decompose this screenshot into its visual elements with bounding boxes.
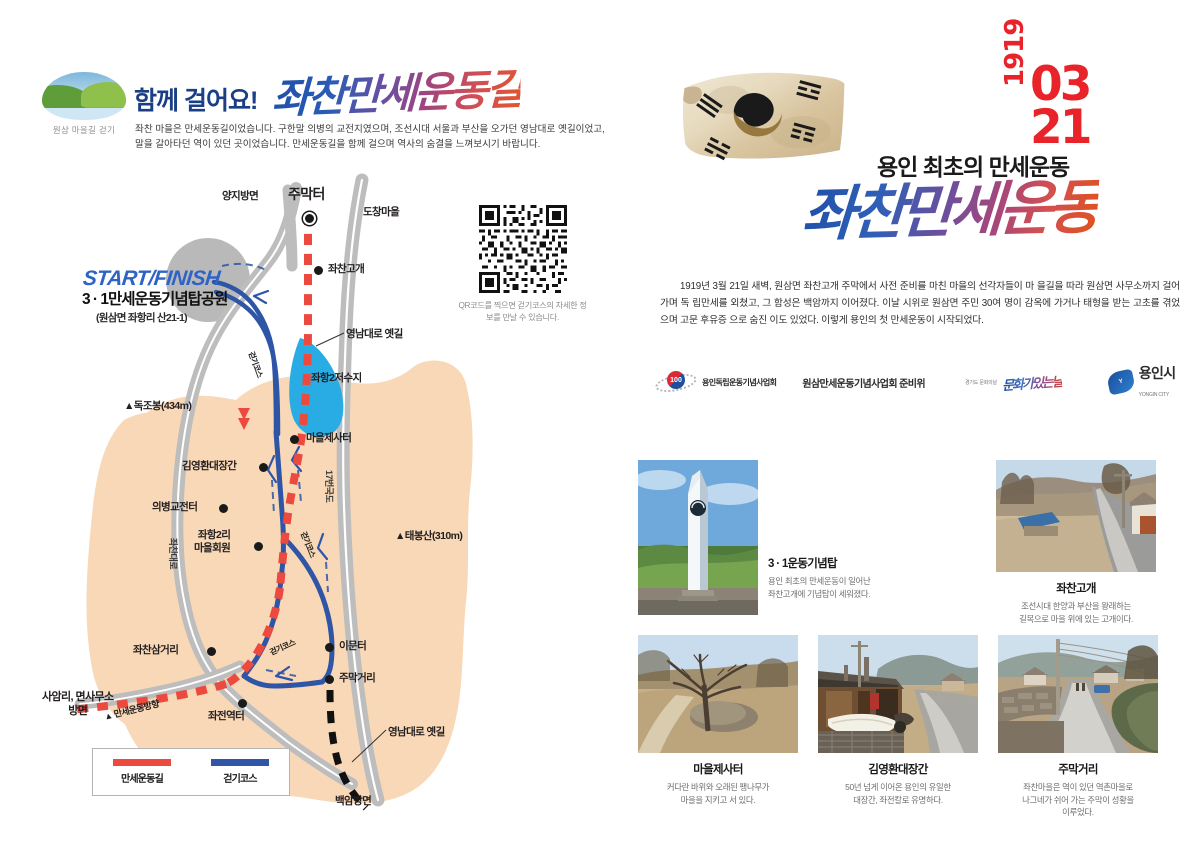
date-day: 21 (1030, 100, 1089, 155)
photo-title-village-ritual-site: 마을제사터 (638, 761, 798, 777)
photo-desc-jumak-street: 좌찬마을은 역이 있던 역촌마을로 나그네가 쉬어 가는 주막이 성황을 이루었… (998, 781, 1158, 819)
map-label-village-hall: 좌항2리마을회원 (194, 529, 230, 554)
date-year: 1919 (1002, 19, 1028, 87)
photo-village-ritual-site (638, 635, 798, 753)
map-label-imunteo: 이문터 (339, 638, 366, 653)
photo-card-memorial-tower: 3 · 1운동기념탑 용인 최초의 만세운동이 일어난 좌찬고개에 기념탑이 세… (638, 460, 758, 615)
partner-4-sub: YONGIN CITY (1139, 392, 1169, 398)
start-finish-name: 3 · 1만세운동기념탑공원 (82, 292, 227, 308)
map-label-dochang: 도창마을 (363, 204, 399, 219)
date-month-day: 03 21 (1030, 63, 1089, 149)
headline-brush-title: 좌찬만세운동길 (271, 68, 522, 120)
map-label-taebongsan: ▲태봉산(310m) (395, 528, 462, 543)
map-label-baegam: 백암방면 (335, 793, 371, 808)
photo-card-village-ritual-site: 마을제사터 커다란 바위와 오래된 팽나무가 마을을 지키고 서 있다. (638, 635, 798, 806)
map-label-maeul-jesa: 마을제사터 (306, 430, 351, 445)
legend-swatch-course (211, 759, 269, 766)
taegeukgi-graphic (678, 64, 853, 169)
map-label-route17: 17번국도 (323, 470, 336, 502)
partner-1-name: 용인독립운동기념사업회 (702, 377, 776, 388)
photo-card-jumak-street: 주막거리 좌찬마을은 역이 있던 역촌마을로 나그네가 쉬어 가는 주막이 성황… (998, 635, 1158, 819)
map-dot-jumakteo (303, 212, 316, 225)
photo-title-jumak-street: 주막거리 (998, 761, 1158, 777)
partner-logo-3: 경기도 문화의날 문화가있는날 (965, 373, 1062, 392)
qr-code-icon[interactable] (479, 205, 567, 293)
map-label-samgeori: 좌찬삼거리 (133, 642, 178, 657)
map-label-yeongnamdaero-bottom: 영남대로 옛길 (388, 724, 445, 739)
brand-mark: 원삼 마을길 걷기 (38, 72, 130, 136)
qr-caption: QR코드를 찍으면 걷기코스의 자세한 정보를 만날 수 있습니다. (455, 300, 590, 325)
brand-caption: 원삼 마을길 걷기 (38, 124, 130, 136)
photo-village-ritual-site-image (638, 635, 798, 753)
map-dot-jumak-geori (325, 675, 334, 684)
photo-title-memorial-tower: 3 · 1운동기념탑 (768, 555, 918, 571)
photo-title-smithy: 김영환대장간 (818, 761, 978, 777)
map-label-jumak-geori: 주막거리 (339, 670, 375, 685)
qr-block: QR코드를 찍으면 걷기코스의 자세한 정보를 만날 수 있습니다. (455, 205, 590, 325)
photo-memorial-tower (638, 460, 758, 615)
right-body-text: 1919년 3월 21일 새벽, 원삼면 좌찬고개 주막에서 사전 준비를 마친… (660, 278, 1180, 329)
partner-logo-1: 100 용인독립운동기념사업회 (655, 369, 776, 395)
photo-memorial-tower-image (638, 460, 758, 615)
map-dot-jwachan-gogae (314, 266, 323, 275)
photo-smithy-image (818, 635, 978, 753)
legend-item-course: 걷기코스 (191, 759, 289, 785)
map-dot-kim-daejanggan (259, 463, 268, 472)
anniversary-100-icon: 100 (655, 369, 697, 395)
map-label-kim-daejanggan: 김영환대장간 (182, 458, 236, 473)
photo-card-jwachan-pass: 좌찬고개 조선시대 한양과 부산을 왕래하는 길목으로 마을 위에 있는 고개이… (996, 460, 1156, 625)
taegeukgi-flag-icon (678, 64, 853, 169)
map-label-yangji: 양지방면 (222, 188, 258, 203)
map-label-yeongnamdaero-top: 영남대로 옛길 (346, 326, 403, 341)
headline: 함께 걸어요! 좌찬만세운동길 (134, 78, 521, 120)
legend-label-manse: 만세운동길 (93, 770, 191, 785)
partner-2-name: 원삼만세운동기념사업회 준비위 (802, 375, 925, 390)
map-label-reservoir: 좌항2저수지 (311, 370, 362, 385)
photo-desc-jwachan-pass: 조선시대 한양과 부산을 왕래하는 길목으로 마을 위에 있는 고개이다. (996, 600, 1156, 625)
map-label-uibyeong: 의병교전터 (152, 499, 197, 514)
photo-card-smithy: 김영환대장간 50년 넘게 이어온 용인의 유일한 대장간, 좌전칼로 유명하다… (818, 635, 978, 806)
date-badge: 1919 03 21 (1000, 63, 1110, 155)
photo-jumak-street (998, 635, 1158, 753)
start-finish-block: START/FINISH 3 · 1만세운동기념탑공원 (원삼면 좌항리 산21… (82, 268, 227, 325)
map-label-jwajeon: 좌전역터 (208, 708, 244, 723)
map-dot-samgeori (207, 647, 216, 656)
partner-4-name: 용인시 (1139, 365, 1176, 381)
start-finish-address: (원삼면 좌항리 산21-1) (82, 310, 227, 325)
yongin-city-icon: Y (1106, 369, 1136, 396)
map-label-jwachan-daero: 좌찬대로 (167, 538, 180, 569)
partner-logo-2: 원삼만세운동기념사업회 준비위 (802, 375, 925, 390)
map-dot-maeul-jesa (290, 435, 299, 444)
intro-paragraph: 좌찬 마을은 만세운동길이었습니다. 구한말 의병의 교전지였으며, 조선시대 … (135, 122, 605, 152)
photo-smithy (818, 635, 978, 753)
right-brush-title: 좌찬만세운동 (800, 177, 1099, 244)
headline-lead: 함께 걸어요! (134, 89, 257, 120)
legend-label-course: 걷기코스 (191, 770, 289, 785)
right-body-content: 1919년 3월 21일 새벽, 원삼면 좌찬고개 주막에서 사전 준비를 마친… (660, 281, 1180, 326)
partner-3-name: 문화가있는날 (1001, 370, 1062, 393)
mountain-lake-logo-icon (42, 72, 126, 120)
map-legend: 만세운동길 걷기코스 (92, 748, 290, 796)
photo-jwachan-pass-image (996, 460, 1156, 572)
map-dot-village-hall (254, 542, 263, 551)
partner-logo-row: 100 용인독립운동기념사업회 원삼만세운동기념사업회 준비위 경기도 문화의날… (655, 360, 1185, 404)
map-dot-uibyeong (219, 504, 228, 513)
map-label-dokjobong: ▲독조봉(434m) (124, 398, 191, 413)
photo-title-jwachan-pass: 좌찬고개 (996, 580, 1156, 596)
photo-desc-village-ritual-site: 커다란 바위와 오래된 팽나무가 마을을 지키고 서 있다. (638, 781, 798, 806)
qr-code-graphic (479, 205, 567, 293)
start-finish-title: START/FINISH (82, 268, 230, 289)
legend-swatch-manse (113, 759, 171, 766)
map-label-jumakteo: 주막터 (288, 184, 325, 204)
legend-item-manse: 만세운동길 (93, 759, 191, 785)
photo-jumak-street-image (998, 635, 1158, 753)
photo-desc-smithy: 50년 넘게 이어온 용인의 유일한 대장간, 좌전칼로 유명하다. (818, 781, 978, 806)
map-dot-jwajeon (238, 699, 247, 708)
map-dot-imunteo (325, 643, 334, 652)
partner-3-sub: 경기도 문화의날 (965, 379, 997, 386)
partner-logo-4: Y 용인시 YONGIN CITY (1108, 363, 1176, 401)
map-label-jwachan-gogae: 좌찬고개 (328, 261, 364, 276)
photo-jwachan-pass (996, 460, 1156, 572)
photo-desc-memorial-tower: 용인 최초의 만세운동이 일어난 좌찬고개에 기념탑이 세워졌다. (768, 575, 918, 600)
reservoir-water (289, 338, 343, 437)
left-panel: 원삼 마을길 걷기 함께 걸어요! 좌찬만세운동길 좌찬 마을은 만세운동길이었… (0, 0, 600, 842)
